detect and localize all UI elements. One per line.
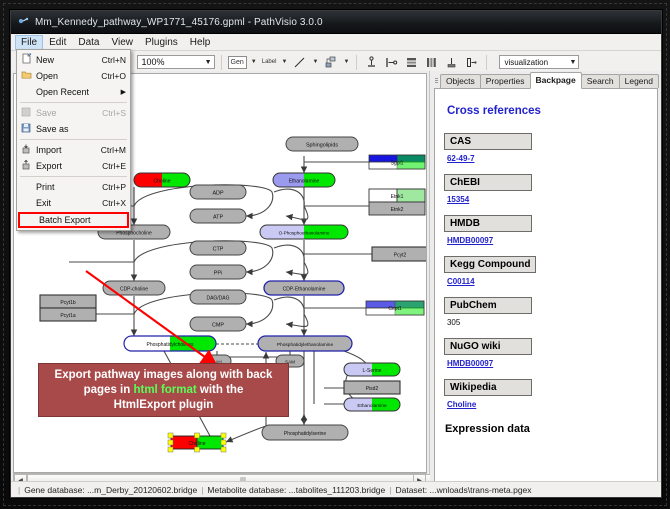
menu-item-save-as-label: Save as: [36, 124, 126, 134]
svg-text:CMP: CMP: [212, 323, 224, 329]
label-tool-icon[interactable]: Label: [261, 54, 278, 71]
menu-item-open-shortcut: Ctrl+O: [101, 71, 126, 81]
menu-item-batch-export-label: Batch Export: [39, 215, 123, 225]
node-ethanolamine-bottom: Ethanolamine: [344, 398, 400, 411]
menu-item-open-recent[interactable]: Open Recent ▶: [17, 84, 130, 100]
svg-text:Phosphatidylethanolamine: Phosphatidylethanolamine: [277, 342, 334, 348]
svg-text:Cept1: Cept1: [388, 306, 402, 312]
backpage-head-kegg: Kegg Compound: [444, 256, 537, 273]
align-top-icon[interactable]: [363, 54, 380, 71]
menu-item-save: Save Ctrl+S: [17, 105, 130, 121]
node-choline-top: Choline: [134, 173, 190, 187]
backpage-link-chebi[interactable]: 15354: [447, 195, 648, 204]
backpage-entry-pubchem: PubChem 305: [444, 295, 648, 327]
menu-item-new[interactable]: New Ctrl+N: [17, 52, 130, 68]
svg-text:Choline: Choline: [154, 179, 171, 185]
node-sphingolipids: Sphingolipids: [286, 137, 358, 151]
backpage-link-kegg[interactable]: C00114: [447, 277, 648, 286]
line-tool-icon[interactable]: [291, 54, 308, 71]
menu-item-export-shortcut: Ctrl+E: [102, 161, 126, 171]
svg-text:CDP-Ethanolamine: CDP-Ethanolamine: [283, 287, 326, 293]
window-titlebar: Mm_Kennedy_pathway_WP1771_45176.gpml - P…: [11, 11, 661, 34]
backpage-entry-chebi: ChEBI 15354: [444, 172, 648, 204]
pathvisio-app-icon: [17, 16, 29, 28]
datanode-tool-icon[interactable]: Gen: [228, 56, 247, 69]
node-choline-selected: Choline: [168, 433, 226, 452]
backpage-head-nugo: NuGO wiki: [444, 338, 532, 355]
callout-line2-highlight: html format: [133, 384, 196, 396]
menu-item-save-label: Save: [36, 108, 102, 118]
export-icon: [21, 157, 36, 175]
pathvisio-window: Mm_Kennedy_pathway_WP1771_45176.gpml - P…: [10, 10, 662, 498]
menu-item-exit[interactable]: Exit Ctrl+X: [17, 195, 130, 211]
zoom-combobox[interactable]: 100% ▼: [137, 55, 215, 69]
menu-item-save-as[interactable]: Save as: [17, 121, 130, 137]
callout-line1: Export pathway images along with back: [55, 369, 273, 381]
interaction-tool-icon[interactable]: [322, 54, 339, 71]
tab-objects[interactable]: Objects: [440, 74, 481, 88]
status-dataset: Dataset: ...wnloads\trans-meta.pgex: [395, 485, 531, 495]
backpage-entry-hmdb: HMDB HMDB00097: [444, 213, 648, 245]
svg-text:Pcyt2: Pcyt2: [394, 253, 407, 259]
node-o-phosphoethanolamine: O-Phosphoethanolamine: [260, 225, 348, 239]
svg-text:Phosphatidylcholines: Phosphatidylcholines: [147, 342, 194, 348]
menu-item-exit-shortcut: Ctrl+X: [102, 198, 126, 208]
svg-text:Phosphocholine: Phosphocholine: [116, 231, 152, 237]
svg-text:ADP: ADP: [212, 191, 223, 197]
node-ethanolamine-top: Ethanolamine: [273, 173, 335, 187]
backpage-head-pubchem: PubChem: [444, 297, 532, 314]
node-dag: DAG/DAG: [190, 290, 246, 304]
menu-item-print-label: Print: [36, 182, 102, 192]
node-adp: ADP: [190, 185, 246, 199]
tab-properties[interactable]: Properties: [480, 74, 531, 88]
menu-item-import[interactable]: Import Ctrl+M: [17, 142, 130, 158]
toolbar-divider: [221, 55, 222, 70]
toolbar-divider-2: [356, 55, 357, 70]
menu-item-open-label: Open: [36, 71, 101, 81]
svg-text:Choline: Choline: [189, 441, 206, 447]
menu-item-export[interactable]: Export Ctrl+E: [17, 158, 130, 174]
svg-text:Pcyt1a: Pcyt1a: [60, 313, 76, 319]
toolbar-divider-3: [486, 55, 487, 70]
tabstrip-grip-icon: [434, 74, 439, 86]
menu-divider-3: [20, 176, 127, 177]
menu-view[interactable]: View: [105, 35, 139, 50]
menu-plugins[interactable]: Plugins: [139, 35, 184, 50]
menu-divider-2: [20, 139, 127, 140]
expression-data-header: Expression data: [445, 423, 648, 435]
svg-text:Pisd2: Pisd2: [366, 386, 379, 392]
svg-text:Etnk2: Etnk2: [391, 207, 404, 213]
distribute-vertical-icon[interactable]: [403, 54, 420, 71]
zoom-value: 100%: [142, 57, 165, 67]
node-pcyt2: Pcyt2: [372, 247, 427, 261]
interaction-dropdown-icon[interactable]: ▼: [342, 59, 350, 65]
backpage-entry-wikipedia: Wikipedia Choline: [444, 377, 648, 409]
node-cept1: Cept1: [366, 301, 424, 315]
submenu-chevron-icon: ▶: [121, 88, 126, 96]
menu-item-open-recent-label: Open Recent: [36, 87, 121, 97]
tab-legend[interactable]: Legend: [619, 74, 659, 88]
node-phosphatidylserine: Phosphatidylserine: [262, 425, 348, 440]
status-metabolite-database: Metabolite database: ...tabolites_111203…: [207, 485, 385, 495]
backpage-entry-cas: CAS 62-49-7: [444, 131, 648, 163]
callout-line2-post: with the: [197, 384, 244, 396]
status-gene-database: Gene database: ...m_Derby_20120602.bridg…: [24, 485, 197, 495]
backpage-title: Cross references: [447, 105, 648, 117]
distribute-horizontal-icon[interactable]: [423, 54, 440, 71]
node-atp: ATP: [190, 209, 246, 223]
side-panel-tabstrip: Objects Properties Backpage Search Legen…: [434, 73, 658, 89]
svg-text:DAG/DAG: DAG/DAG: [206, 296, 229, 302]
tab-search[interactable]: Search: [581, 74, 620, 88]
group-icon[interactable]: [463, 54, 480, 71]
node-sgpl1: Sgpl1: [369, 155, 425, 169]
statusbar-divider-2: |: [389, 485, 391, 495]
node-ppi: PPi: [190, 265, 246, 279]
backpage-entry-nugo: NuGO wiki HMDB00097: [444, 336, 648, 368]
backpage-link-wikipedia[interactable]: Choline: [447, 400, 648, 409]
open-folder-icon: [21, 67, 36, 85]
chevron-down-icon: ▼: [201, 59, 212, 66]
chevron-down-icon-2: ▼: [566, 59, 577, 66]
menu-help[interactable]: Help: [184, 35, 217, 50]
menu-item-new-label: New: [36, 55, 102, 65]
label-dropdown-icon[interactable]: ▼: [280, 59, 288, 65]
node-etnk2: Etnk2: [369, 202, 425, 215]
callout-line3: HtmlExport plugin: [114, 399, 214, 411]
backpage-entry-kegg: Kegg Compound C00114: [444, 254, 648, 286]
menu-divider-1: [20, 102, 127, 103]
align-left-icon[interactable]: [383, 54, 400, 71]
menu-item-new-shortcut: Ctrl+N: [102, 55, 126, 65]
backpage-head-hmdb: HMDB: [444, 215, 532, 232]
menu-item-batch-export[interactable]: Batch Export: [18, 212, 129, 228]
node-cdp-choline: CDP-choline: [103, 281, 165, 295]
desktop-background: Mm_Kennedy_pathway_WP1771_45176.gpml - P…: [0, 0, 670, 509]
backpage-head-chebi: ChEBI: [444, 174, 532, 191]
statusbar-divider-0: |: [18, 485, 20, 495]
svg-text:ATP: ATP: [213, 215, 223, 221]
menu-item-exit-label: Exit: [36, 198, 102, 208]
svg-text:Pcyt1b: Pcyt1b: [60, 300, 76, 306]
menu-data[interactable]: Data: [72, 35, 105, 50]
backpage-value-pubchem: 305: [447, 318, 648, 327]
node-phosphatidylcholines: Phosphatidylcholines: [124, 336, 216, 351]
menu-item-export-label: Export: [36, 161, 102, 171]
node-phosphatidylethanolamine: Phosphatidylethanolamine: [258, 336, 352, 351]
svg-text:CDP-choline: CDP-choline: [120, 287, 148, 293]
window-title: Mm_Kennedy_pathway_WP1771_45176.gpml - P…: [35, 17, 323, 28]
save-as-icon: [21, 120, 36, 138]
backpage-link-cas[interactable]: 62-49-7: [447, 154, 648, 163]
node-l-serine: L-Serine: [344, 363, 400, 376]
visualization-combobox[interactable]: visualization ▼: [499, 55, 579, 69]
line-dropdown-icon[interactable]: ▼: [311, 59, 319, 65]
node-etnk1: Etnk1: [369, 189, 425, 202]
backpage-head-wikipedia: Wikipedia: [444, 379, 532, 396]
node-pcyt1b: Pcyt1b: [40, 295, 96, 308]
menu-item-print[interactable]: Print Ctrl+P: [17, 179, 130, 195]
backpage-content[interactable]: Cross references CAS 62-49-7 ChEBI 15354…: [434, 88, 658, 494]
datanode-dropdown-icon[interactable]: ▼: [250, 59, 258, 65]
svg-text:O-Phosphoethanolamine: O-Phosphoethanolamine: [279, 231, 330, 236]
tab-backpage[interactable]: Backpage: [530, 72, 582, 89]
svg-text:Etnk1: Etnk1: [391, 194, 404, 200]
node-cmp: CMP: [190, 317, 246, 331]
node-pisd2: Pisd2: [344, 381, 400, 394]
svg-text:CTP: CTP: [213, 247, 224, 253]
svg-text:Phosphatidylserine: Phosphatidylserine: [284, 431, 326, 437]
annotation-callout: Export pathway images along with back pa…: [38, 363, 289, 417]
menu-item-import-shortcut: Ctrl+M: [101, 145, 126, 155]
backpage-link-nugo[interactable]: HMDB00097: [447, 359, 648, 368]
statusbar-divider-1: |: [201, 485, 203, 495]
node-cdp-ethanolamine: CDP-Ethanolamine: [264, 281, 344, 295]
side-panel: Objects Properties Backpage Search Legen…: [430, 71, 661, 497]
svg-text:Sphingolipids: Sphingolipids: [306, 143, 338, 149]
menu-item-print-shortcut: Ctrl+P: [102, 182, 126, 192]
backpage-head-cas: CAS: [444, 133, 532, 150]
stack-center-icon[interactable]: [443, 54, 460, 71]
menu-item-save-shortcut: Ctrl+S: [102, 108, 126, 118]
menu-item-import-label: Import: [36, 145, 101, 155]
menu-file[interactable]: File: [15, 35, 43, 50]
svg-text:Sgpl1: Sgpl1: [391, 161, 404, 167]
file-menu-dropdown[interactable]: New Ctrl+N Open Ctrl+O Open Recent ▶: [16, 49, 131, 231]
node-ctp: CTP: [190, 241, 246, 255]
svg-text:L-Serine: L-Serine: [363, 368, 382, 374]
svg-text:Ethanolamine: Ethanolamine: [357, 403, 387, 409]
statusbar: | Gene database: ...m_Derby_20120602.bri…: [11, 481, 661, 497]
node-pcyt1a: Pcyt1a: [40, 308, 96, 321]
callout-line2-pre: pages in: [84, 384, 134, 396]
backpage-link-hmdb[interactable]: HMDB00097: [447, 236, 648, 245]
svg-text:PPi: PPi: [214, 271, 222, 277]
menu-item-open[interactable]: Open Ctrl+O: [17, 68, 130, 84]
visualization-value: visualization: [504, 58, 548, 67]
menu-edit[interactable]: Edit: [43, 35, 72, 50]
svg-text:Ethanolamine: Ethanolamine: [289, 179, 320, 185]
